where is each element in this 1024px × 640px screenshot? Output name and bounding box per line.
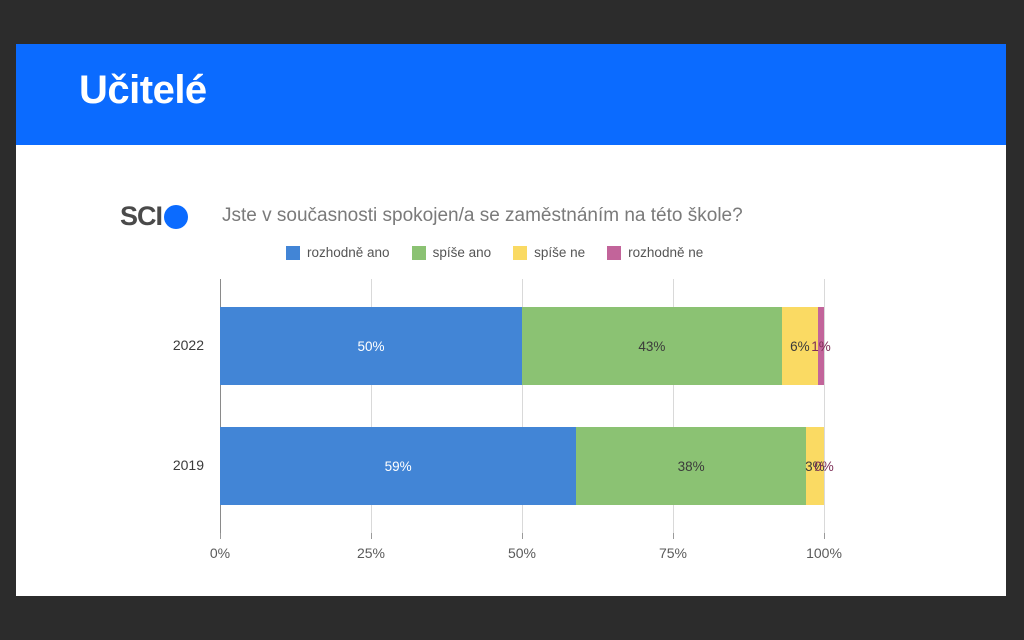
bar-segment-value-label: 59% [385, 459, 412, 474]
legend-swatch-icon [286, 246, 300, 260]
presentation-slide: Učitelé SCI Jste v současnosti spokojen/… [16, 44, 1006, 596]
x-gridline [824, 279, 825, 533]
x-axis-tick-label: 75% [659, 545, 687, 561]
legend-label: rozhodně ne [628, 245, 703, 260]
bar-segment[interactable]: 50% [220, 307, 522, 385]
bar-segment-value-label: 50% [357, 339, 384, 354]
bar-segment[interactable]: 38% [576, 427, 806, 505]
x-axis-tick-mark [824, 533, 825, 539]
stacked-bar-row[interactable]: 59%38%3%0% [220, 427, 824, 505]
legend-item[interactable]: spíše ne [513, 245, 585, 260]
scio-logo-text: SCI [120, 201, 162, 232]
x-axis-tick-mark [522, 533, 523, 539]
x-axis-tick-label: 0% [210, 545, 230, 561]
y-axis-category-label: 2022 [134, 337, 204, 353]
bar-segment-value-label: 1% [811, 339, 831, 354]
x-axis-tick-mark [220, 533, 221, 539]
legend-item[interactable]: spíše ano [412, 245, 492, 260]
bar-segment-value-label: 6% [790, 339, 810, 354]
bar-segment[interactable]: 59% [220, 427, 576, 505]
page-title: Učitelé [79, 68, 207, 113]
legend-item[interactable]: rozhodně ano [286, 245, 390, 260]
slide-header-banner: Učitelé [16, 44, 1006, 145]
x-axis-tick-label: 50% [508, 545, 536, 561]
legend-item[interactable]: rozhodně ne [607, 245, 703, 260]
x-axis-tick-mark [371, 533, 372, 539]
legend-swatch-icon [607, 246, 621, 260]
legend-swatch-icon [412, 246, 426, 260]
chart-title: Jste v současnosti spokojen/a se zaměstn… [222, 205, 743, 227]
x-axis-tick-label: 100% [806, 545, 842, 561]
bar-segment[interactable]: 1% [818, 307, 824, 385]
bar-segment-value-label: 43% [638, 339, 665, 354]
scio-logo-dot-icon [164, 205, 188, 229]
chart-plot-area: 0%25%50%75%100%202250%43%6%1%201959%38%3… [220, 279, 824, 533]
bar-segment-value-label: 38% [678, 459, 705, 474]
stacked-bar-row[interactable]: 50%43%6%1% [220, 307, 824, 385]
legend-label: rozhodně ano [307, 245, 390, 260]
bar-segment[interactable]: 43% [522, 307, 782, 385]
slide-content: SCI Jste v současnosti spokojen/a se zam… [16, 145, 1006, 596]
bar-segment-value-label: 0% [814, 459, 834, 474]
legend-label: spíše ne [534, 245, 585, 260]
legend-swatch-icon [513, 246, 527, 260]
x-axis-tick-mark [673, 533, 674, 539]
scio-logo: SCI [120, 201, 188, 232]
x-axis-tick-label: 25% [357, 545, 385, 561]
chart-legend: rozhodně anospíše anospíše nerozhodně ne [286, 245, 703, 260]
legend-label: spíše ano [433, 245, 492, 260]
y-axis-category-label: 2019 [134, 457, 204, 473]
